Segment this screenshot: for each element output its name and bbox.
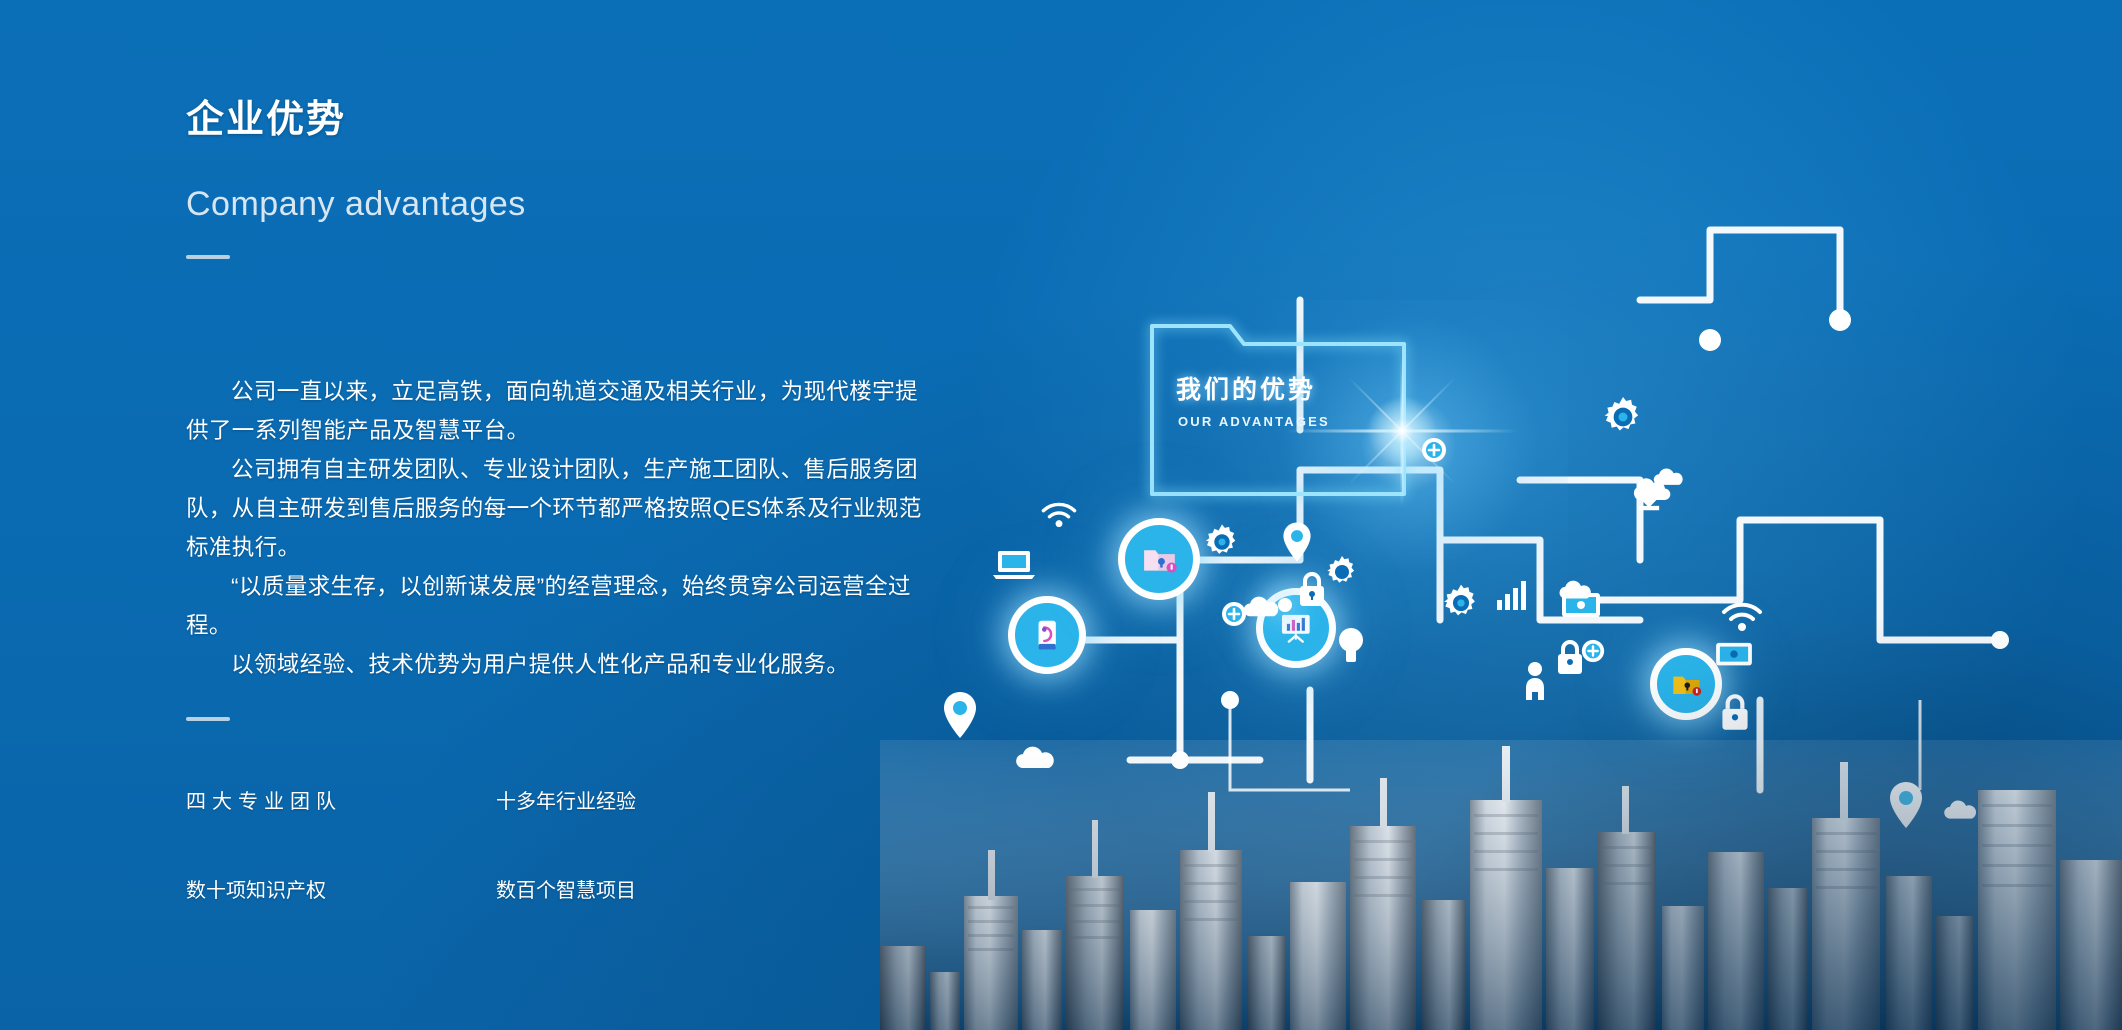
page-title-en: Company advantages [186,185,526,224]
wifi-icon [1720,600,1764,634]
cloud-group-3 [1556,580,1596,602]
wifi-group [1720,600,1764,634]
map-pin-group-mid [1280,520,1314,564]
laptop-icon [990,546,1038,582]
divider-mid [186,717,230,721]
page-root: 企业优势 Company advantages 公司一直以来，立足高铁，面向轨道… [0,0,2122,1030]
smart-city-graphic: 我们的优势 OUR ADVANTAGES [880,0,2122,1030]
paragraph-3: “以质量求生存，以创新谋发展”的经营理念，始终贯穿公司运营全过程。 [186,567,926,645]
phone-call-node[interactable] [1008,596,1086,674]
gear-icon-upper [1598,392,1648,442]
folder-lock-icon [1139,539,1180,580]
gear-icon [1598,392,1648,442]
card-title-en: OUR ADVANTAGES [1178,414,1330,429]
laptop-group [990,546,1038,582]
plus-node-group-card [1420,436,1448,464]
gear-icon-left [1200,520,1244,564]
left-content-column: 企业优势 Company advantages 公司一直以来，立足高铁，面向轨道… [186,0,966,1030]
plus-node-icon [1580,638,1606,664]
stat-experience: 十多年行业经验 [496,785,636,814]
map-pin-icon [1280,520,1314,564]
stats-grid: 四大专业团队 十多年行业经验 数十项知识产权 数百个智慧项目 [186,785,806,963]
monitor-icon [1714,640,1754,672]
cloud-group-2 [1240,596,1284,620]
paragraph-1: 公司一直以来，立足高铁，面向轨道交通及相关行业，为现代楼宇提供了一系列智能产品及… [186,372,926,450]
cloud-icon [1650,468,1688,488]
stats-row: 四大专业团队 十多年行业经验 [186,785,806,814]
paragraph-2: 公司拥有自主研发团队、专业设计团队，生产施工团队、售后服务团队，从自主研发到售后… [186,450,926,567]
lightbulb-group [1334,624,1368,668]
gear-icon-lower [1438,580,1484,626]
folder-locked-yellow-icon [1669,667,1704,702]
lightbulb-icon [1334,624,1368,668]
padlock-icon [1294,568,1330,610]
body-copy: 公司一直以来，立足高铁，面向轨道交通及相关行业，为现代楼宇提供了一系列智能产品及… [186,372,926,684]
cloud-icon [1556,580,1596,602]
stats-row: 数十项知识产权 数百个智慧项目 [186,874,806,903]
cloud-icon [1240,596,1284,620]
stat-teams: 四大专业团队 [186,785,496,814]
smartphone-call-icon [1028,616,1066,654]
gear-icon [1438,580,1484,626]
card-title-cn: 我们的优势 [1176,370,1316,406]
monitor-group-r [1714,640,1754,672]
signal-bars-icon [1494,576,1534,612]
plus-node-icon [1420,436,1448,464]
wifi-group-left [1040,500,1078,530]
gear-icon [1200,520,1244,564]
page-title-cn: 企业优势 [186,88,346,143]
stat-projects: 数百个智慧项目 [496,874,636,903]
our-advantages-card: 我们的优势 OUR ADVANTAGES [1148,318,1404,498]
divider-top [186,255,230,259]
padlock-group-left [1294,568,1330,610]
paragraph-4: 以领域经验、技术优势为用户提供人性化产品和专业化服务。 [186,645,926,684]
plus-node-group-r [1580,638,1606,664]
city-skyline [880,700,2122,1030]
signal-bars-group [1494,576,1534,612]
secure-folder-node[interactable] [1118,518,1200,600]
wifi-icon [1040,500,1078,530]
cloud-group-6 [1650,468,1688,488]
stat-patents: 数十项知识产权 [186,874,496,903]
